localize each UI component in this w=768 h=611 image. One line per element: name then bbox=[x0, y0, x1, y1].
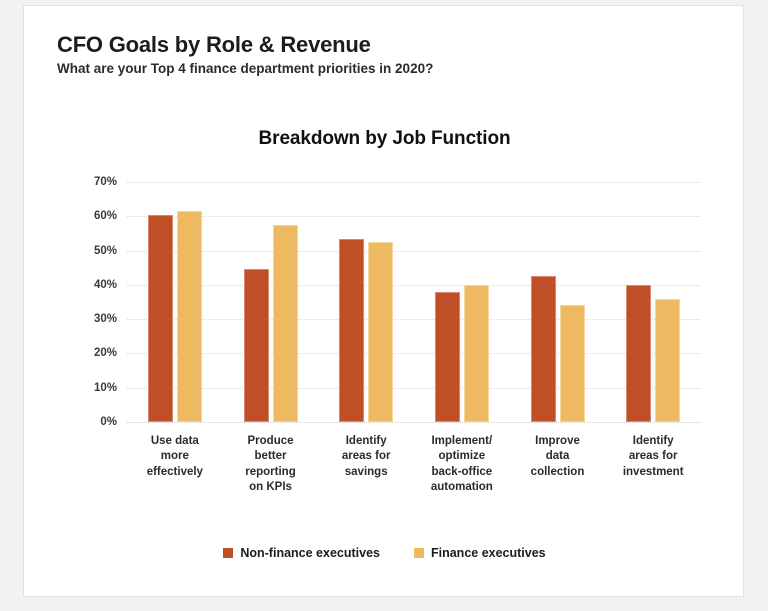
bar-group bbox=[510, 182, 606, 422]
chart-plot: 70%60%50%40%30%20%10%0% bbox=[24, 6, 745, 598]
legend-item[interactable]: Finance executives bbox=[414, 546, 546, 560]
legend-label: Finance executives bbox=[431, 546, 546, 560]
x-axis-label-line: investment bbox=[607, 465, 699, 480]
chart-card: CFO Goals by Role & Revenue What are you… bbox=[23, 5, 744, 597]
bar-pair bbox=[318, 182, 414, 422]
bar-group bbox=[605, 182, 701, 422]
bar-non-finance[interactable] bbox=[148, 215, 173, 422]
x-axis-label-line: more bbox=[129, 449, 221, 464]
x-axis-labels: Use datamoreeffectivelyProducebetterrepo… bbox=[127, 434, 701, 495]
x-axis-label-line: effectively bbox=[129, 465, 221, 480]
y-axis-tick-label: 40% bbox=[57, 279, 117, 291]
y-axis-tick-label: 10% bbox=[57, 382, 117, 394]
bar-group bbox=[414, 182, 510, 422]
bar-pair bbox=[510, 182, 606, 422]
x-axis-label-line: data bbox=[512, 449, 604, 464]
x-axis-label-line: areas for bbox=[607, 449, 699, 464]
legend-label: Non-finance executives bbox=[240, 546, 380, 560]
x-axis-label: Improvedatacollection bbox=[510, 434, 606, 495]
legend-swatch-icon bbox=[414, 548, 424, 558]
bar-non-finance[interactable] bbox=[244, 269, 269, 422]
bar-finance[interactable] bbox=[368, 242, 393, 422]
y-axis-tick-label: 70% bbox=[57, 176, 117, 188]
bar-pair bbox=[414, 182, 510, 422]
chart-legend: Non-finance executivesFinance executives bbox=[24, 546, 745, 560]
x-axis-label-line: on KPIs bbox=[225, 480, 317, 495]
x-axis-label-line: better bbox=[225, 449, 317, 464]
x-axis-label-line: optimize bbox=[416, 449, 508, 464]
x-axis-label-line: Produce bbox=[225, 434, 317, 449]
x-axis-label-line: Identify bbox=[320, 434, 412, 449]
y-axis-tick-label: 50% bbox=[57, 245, 117, 257]
x-axis-label: Producebetterreportingon KPIs bbox=[223, 434, 319, 495]
plot-area bbox=[127, 182, 701, 422]
y-axis-tick-label: 20% bbox=[57, 347, 117, 359]
bar-non-finance[interactable] bbox=[435, 292, 460, 422]
x-axis-label-line: Identify bbox=[607, 434, 699, 449]
bar-pair bbox=[223, 182, 319, 422]
bar-finance[interactable] bbox=[177, 211, 202, 422]
bar-pair bbox=[127, 182, 223, 422]
legend-item[interactable]: Non-finance executives bbox=[223, 546, 380, 560]
gridline bbox=[127, 422, 701, 423]
x-axis-label: Identifyareas forsavings bbox=[318, 434, 414, 495]
bar-group bbox=[223, 182, 319, 422]
bar-finance[interactable] bbox=[464, 285, 489, 422]
x-axis-label: Implement/optimizeback-officeautomation bbox=[414, 434, 510, 495]
bar-non-finance[interactable] bbox=[339, 239, 364, 422]
y-axis-tick-label: 0% bbox=[57, 416, 117, 428]
bar-group bbox=[318, 182, 414, 422]
x-axis-label-line: back-office bbox=[416, 465, 508, 480]
y-axis-tick-label: 30% bbox=[57, 313, 117, 325]
x-axis-label-line: Improve bbox=[512, 434, 604, 449]
bar-non-finance[interactable] bbox=[626, 285, 651, 422]
x-axis-label-line: savings bbox=[320, 465, 412, 480]
x-axis-label-line: Use data bbox=[129, 434, 221, 449]
x-axis-label-line: areas for bbox=[320, 449, 412, 464]
x-axis-label-line: automation bbox=[416, 480, 508, 495]
bar-pair bbox=[605, 182, 701, 422]
x-axis-label-line: Implement/ bbox=[416, 434, 508, 449]
legend-swatch-icon bbox=[223, 548, 233, 558]
bar-group bbox=[127, 182, 223, 422]
y-axis-tick-label: 60% bbox=[57, 210, 117, 222]
bar-groups bbox=[127, 182, 701, 422]
x-axis-label: Identifyareas forinvestment bbox=[605, 434, 701, 495]
x-axis-label-line: reporting bbox=[225, 465, 317, 480]
bar-non-finance[interactable] bbox=[531, 276, 556, 422]
x-axis-label: Use datamoreeffectively bbox=[127, 434, 223, 495]
bar-finance[interactable] bbox=[560, 305, 585, 422]
bar-finance[interactable] bbox=[655, 299, 680, 422]
bar-finance[interactable] bbox=[273, 225, 298, 422]
x-axis-label-line: collection bbox=[512, 465, 604, 480]
